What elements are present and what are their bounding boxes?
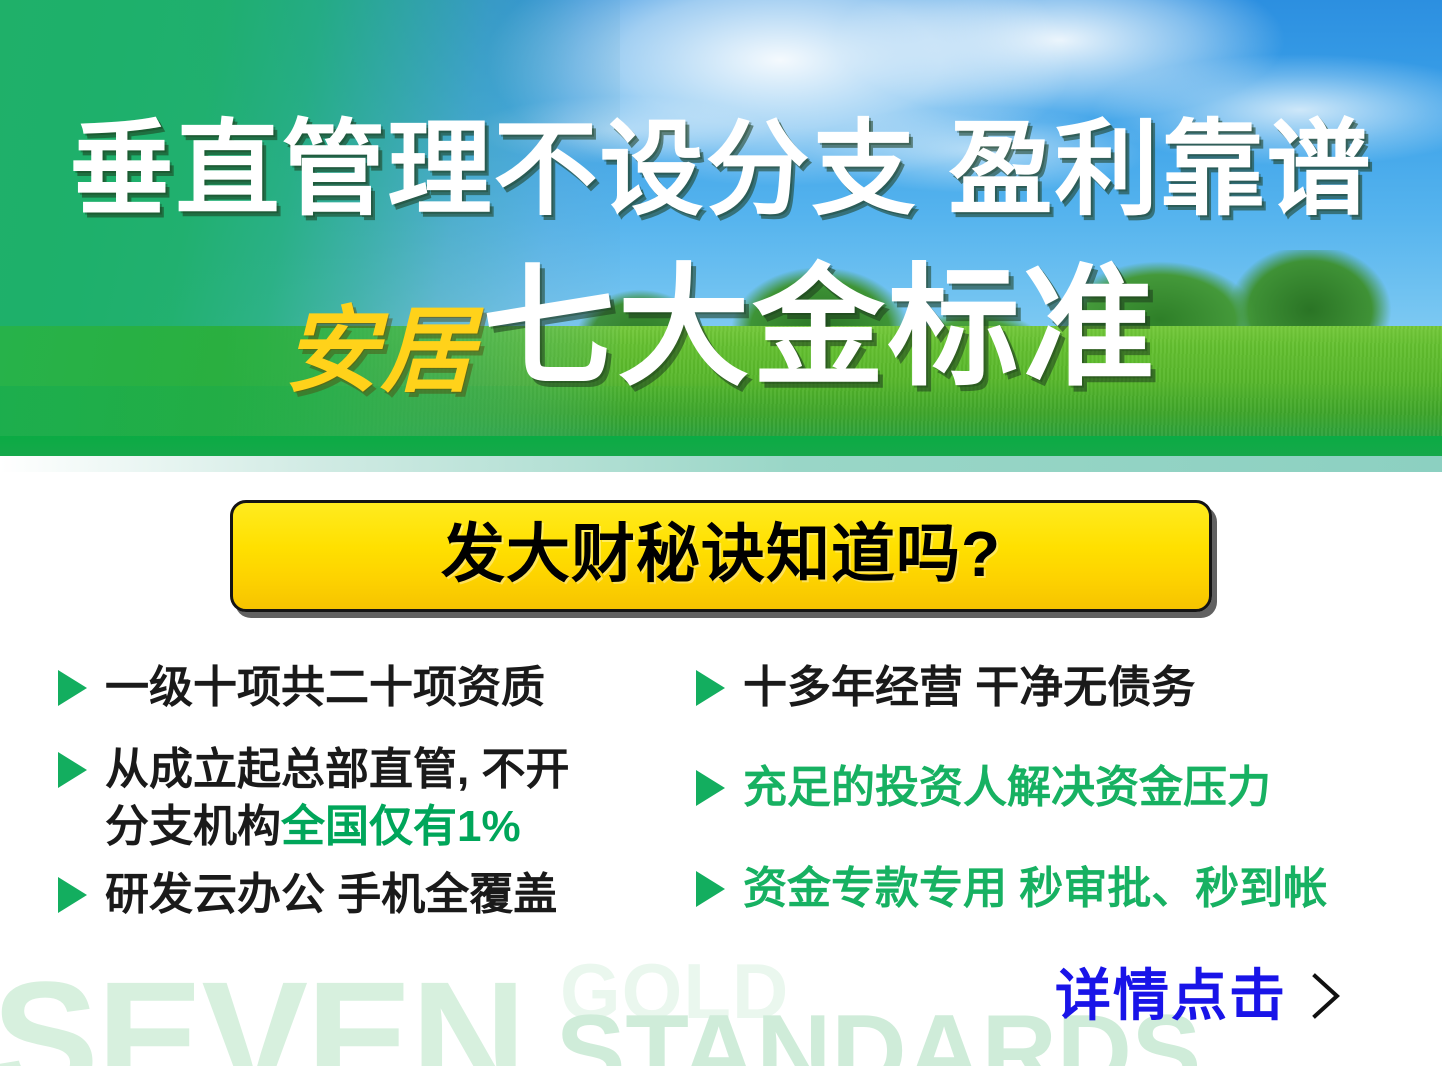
feature-text: 充足的投资人解决资金压力 bbox=[743, 760, 1271, 816]
feature-text-line2: 分支机构 bbox=[105, 802, 281, 851]
headline-question-text: 发大财秘诀知道吗? bbox=[441, 522, 1001, 586]
feature-item-cloud-office: 研发云办公 手机全覆盖 bbox=[58, 867, 698, 923]
hero-bottom-green-bar bbox=[0, 436, 1442, 456]
triangle-bullet-icon bbox=[696, 670, 725, 706]
feature-item-direct-management: 从成立起总部直管, 不开分支机构全国仅有1% bbox=[58, 742, 698, 855]
feature-column-right: 十多年经营 干净无债务 充足的投资人解决资金压力 资金专款专用 秒审批、秒到帐 bbox=[696, 660, 1396, 961]
feature-text-line1: 从成立起总部直管, 不开 bbox=[105, 745, 569, 794]
triangle-bullet-icon bbox=[58, 670, 87, 706]
feature-item-dedicated-funds: 资金专款专用 秒审批、秒到帐 bbox=[696, 861, 1396, 917]
headline-question-banner[interactable]: 发大财秘诀知道吗? bbox=[230, 500, 1212, 612]
feature-item-qualifications: 一级十项共二十项资质 bbox=[58, 660, 698, 716]
chevron-right-icon bbox=[1309, 971, 1343, 1021]
feature-text: 资金专款专用 秒审批、秒到帐 bbox=[743, 861, 1327, 917]
feature-list: 一级十项共二十项资质 从成立起总部直管, 不开分支机构全国仅有1% 研发云办公 … bbox=[0, 660, 1442, 960]
details-cta-label: 详情点击 bbox=[1055, 968, 1287, 1024]
triangle-bullet-icon bbox=[696, 871, 725, 907]
watermark-seven: SEVEN bbox=[0, 958, 524, 1066]
feature-column-left: 一级十项共二十项资质 从成立起总部直管, 不开分支机构全国仅有1% 研发云办公 … bbox=[58, 660, 698, 949]
triangle-bullet-icon bbox=[696, 770, 725, 806]
feature-text: 从成立起总部直管, 不开分支机构全国仅有1% bbox=[105, 742, 569, 855]
details-cta-button[interactable]: 详情点击 bbox=[1055, 968, 1343, 1024]
triangle-bullet-icon bbox=[58, 877, 87, 913]
feature-text: 一级十项共二十项资质 bbox=[105, 660, 545, 716]
feature-item-decade-operation: 十多年经营 干净无债务 bbox=[696, 660, 1396, 716]
hero-subtitle-brand: 安居 bbox=[284, 304, 476, 398]
hero-edge-fade bbox=[0, 456, 1442, 472]
triangle-bullet-icon bbox=[58, 752, 87, 788]
hero-banner: 垂直管理不设分支 盈利靠谱 安居七大金标准 bbox=[0, 0, 1442, 456]
hero-subtitle-main: 七大金标准 bbox=[483, 262, 1158, 394]
hero-subtitle: 安居七大金标准 bbox=[0, 262, 1442, 398]
feature-text: 十多年经营 干净无债务 bbox=[743, 660, 1195, 716]
watermark-gold: GOLD bbox=[560, 952, 789, 1030]
feature-text-highlight: 全国仅有1% bbox=[281, 802, 521, 851]
hero-headline: 垂直管理不设分支 盈利靠谱 bbox=[0, 118, 1442, 222]
feature-text: 研发云办公 手机全覆盖 bbox=[105, 867, 557, 923]
advertisement-page: 垂直管理不设分支 盈利靠谱 安居七大金标准 发大财秘诀知道吗? 一级十项共二十项… bbox=[0, 0, 1442, 1066]
feature-item-investors: 充足的投资人解决资金压力 bbox=[696, 760, 1396, 816]
